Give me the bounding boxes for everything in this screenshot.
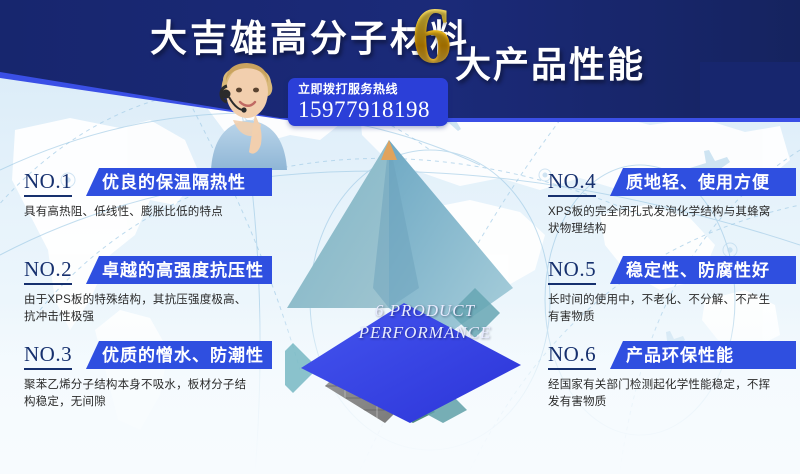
feature-title-5: 稳定性、防腐性好: [626, 259, 770, 283]
feature-desc-3: 聚苯乙烯分子结构本身不吸水，板材分子结构稳定，无间隙: [24, 377, 256, 411]
feature-item-3: NO.3 优质的憎水、防潮性 聚苯乙烯分子结构本身不吸水，板材分子结构稳定，无间…: [24, 341, 274, 411]
feature-head-2: NO.2 卓越的高强度抗压性: [24, 256, 274, 286]
feature-title-1: 优良的保温隔热性: [102, 171, 246, 195]
feature-desc-6: 经国家有关部门检测起化学性能稳定，不挥发有害物质: [548, 377, 780, 411]
feature-head-5: NO.5 稳定性、防腐性好: [548, 256, 798, 286]
feature-number-4: NO.4: [548, 169, 596, 197]
feature-desc-5: 长时间的使用中，不老化、不分解、不产生有害物质: [548, 292, 780, 326]
feature-head-3: NO.3 优质的憎水、防潮性: [24, 341, 274, 371]
feature-head-6: NO.6 产品环保性能: [548, 341, 798, 371]
feature-item-6: NO.6 产品环保性能 经国家有关部门检测起化学性能稳定，不挥发有害物质: [548, 341, 798, 411]
feature-desc-2: 由于XPS板的特殊结构，其抗压强度极高、抗冲击性极强: [24, 292, 256, 326]
feature-head-4: NO.4 质地轻、使用方便: [548, 168, 798, 198]
feature-item-5: NO.5 稳定性、防腐性好 长时间的使用中，不老化、不分解、不产生有害物质: [548, 256, 798, 326]
feature-title-3: 优质的憎水、防潮性: [102, 344, 264, 368]
hotline-number: 15977918198: [298, 97, 448, 123]
diamond-line-2: PERFORMANCE: [350, 322, 500, 344]
promo-banner-page: 6 PRODUCT PERFORMANCE: [0, 0, 800, 474]
feature-number-1: NO.1: [24, 169, 72, 197]
diamond-line-1: 6 PRODUCT: [350, 300, 500, 322]
feature-number-5: NO.5: [548, 257, 596, 285]
feature-head-1: NO.1 优良的保温隔热性: [24, 168, 274, 198]
hotline-label: 立即拨打服务热线: [298, 81, 448, 97]
big-number-six: 6: [412, 0, 452, 76]
feature-desc-1: 具有高热阻、低线性、膨胀比低的特点: [24, 204, 256, 221]
feature-title-4: 质地轻、使用方便: [626, 171, 770, 195]
feature-number-3: NO.3: [24, 342, 72, 370]
feature-title-6: 产品环保性能: [626, 344, 734, 368]
center-diamond-caption: 6 PRODUCT PERFORMANCE: [350, 300, 500, 344]
center-product-graphic: [285, 138, 555, 423]
feature-item-4: NO.4 质地轻、使用方便 XPS板的完全闭孔式发泡化学结构与其蜂窝状物理结构: [548, 168, 798, 238]
feature-item-1: NO.1 优良的保温隔热性 具有高热阻、低线性、膨胀比低的特点: [24, 168, 274, 221]
hotline-box[interactable]: 立即拨打服务热线 15977918198: [288, 78, 448, 126]
feature-number-2: NO.2: [24, 257, 72, 285]
feature-number-6: NO.6: [548, 342, 596, 370]
customer-service-agent-photo: [203, 52, 295, 170]
feature-title-2: 卓越的高强度抗压性: [102, 259, 264, 283]
feature-item-2: NO.2 卓越的高强度抗压性 由于XPS板的特殊结构，其抗压强度极高、抗冲击性极…: [24, 256, 274, 326]
feature-desc-4: XPS板的完全闭孔式发泡化学结构与其蜂窝状物理结构: [548, 204, 780, 238]
page-subtitle: 大产品性能: [455, 36, 645, 88]
